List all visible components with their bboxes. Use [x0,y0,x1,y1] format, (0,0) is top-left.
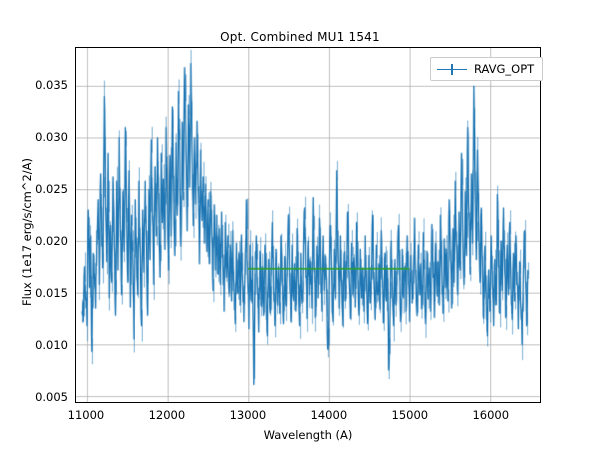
spectrum-plot-canvas [76,48,540,402]
x-tick-label: 13000 [230,408,267,422]
y-tick-label: 0.015 [0,286,68,300]
x-axis-label: Wavelength (A) [75,428,541,442]
x-tick-label: 15000 [392,408,429,422]
y-tick-label: 0.020 [0,234,68,248]
x-tick-label: 11000 [68,408,105,422]
y-tick-label: 0.030 [0,130,68,144]
legend-entry-label: RAVG_OPT [474,62,534,76]
x-tick-label: 16000 [472,408,509,422]
legend-marker-errorbar-icon [437,63,467,76]
y-tick-label: 0.005 [0,390,68,404]
matplotlib-figure: Opt. Combined MU1 1541 0.0050.0100.0150.… [0,0,600,450]
plot-axes [75,47,541,403]
y-tick-label: 0.035 [0,78,68,92]
y-tick-label: 0.025 [0,182,68,196]
x-tick-label: 14000 [311,408,348,422]
legend[interactable]: RAVG_OPT [430,57,543,81]
x-tick-label: 12000 [149,408,186,422]
page-title: Opt. Combined MU1 1541 [0,30,600,44]
y-axis-label: Flux (1e17 erg/s/cm^2/A) [20,132,34,332]
y-tick-label: 0.010 [0,338,68,352]
